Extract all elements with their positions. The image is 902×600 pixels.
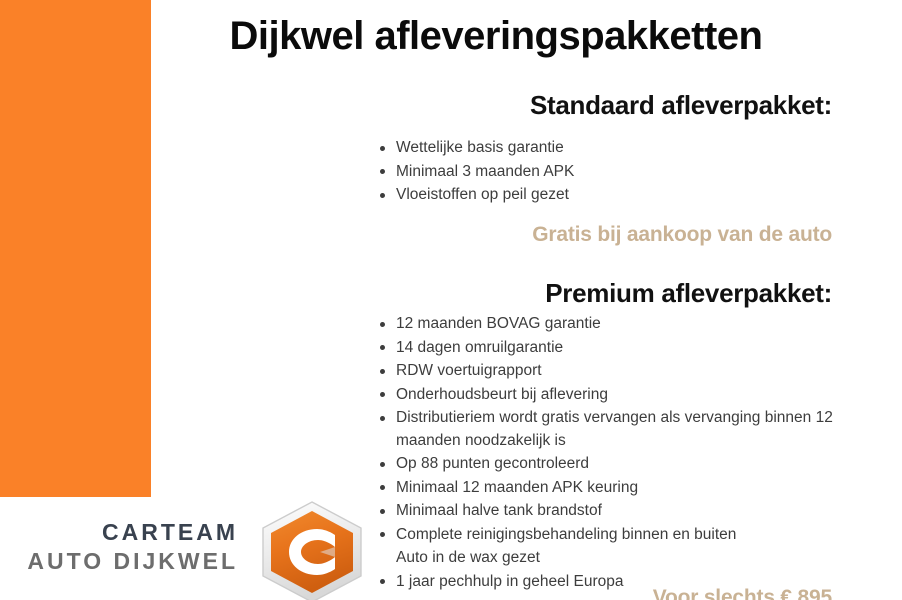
premium-package-price-note: Voor slechts € 895 [653, 585, 832, 600]
list-item: 14 dagen omruilgarantie [378, 337, 838, 360]
brand-wordmark: CARTEAM AUTO DIJKWEL [0, 518, 238, 576]
list-item: Vloeistoffen op peil gezet [378, 184, 838, 207]
list-item-label: Minimaal 12 maanden APK keuring [396, 477, 838, 500]
list-item: 12 maanden BOVAG garantie [378, 313, 838, 336]
list-item: Minimaal 12 maanden APK keuring [378, 477, 838, 500]
list-item-label: Op 88 punten gecontroleerd [396, 453, 838, 476]
list-item: Minimaal halve tank brandstof [378, 500, 838, 523]
list-item: Op 88 punten gecontroleerd [378, 453, 838, 476]
premium-package-heading: Premium afleverpakket: [545, 278, 832, 308]
carteam-hexagon-c-logo-icon [257, 500, 367, 600]
list-item-label: Wettelijke basis garantie [396, 137, 838, 160]
list-item-label: Minimaal halve tank brandstof [396, 500, 838, 523]
bullet-dot-icon [380, 322, 385, 327]
list-item: Complete reinigingsbehandeling binnen en… [378, 524, 838, 547]
bullet-dot-icon [380, 392, 385, 397]
bullet-dot-icon [380, 509, 385, 514]
brand-name-carteam: CARTEAM [0, 518, 238, 546]
list-item-label: Vloeistoffen op peil gezet [396, 184, 838, 207]
premium-package-list: 12 maanden BOVAG garantie 14 dagen omrui… [378, 313, 838, 594]
list-item: Minimaal 3 maanden APK [378, 161, 838, 184]
bullet-dot-icon [380, 532, 385, 537]
list-item-label: Complete reinigingsbehandeling binnen en… [396, 524, 838, 547]
list-item: RDW voertuigrapport [378, 360, 838, 383]
standard-package-heading: Standaard afleverpakket: [530, 90, 832, 120]
standard-package-list: Wettelijke basis garantie Minimaal 3 maa… [378, 137, 838, 208]
list-item-label: Distributieriem wordt gratis vervangen a… [396, 407, 838, 452]
orange-accent-block [0, 0, 151, 497]
list-item-label: Auto in de wax gezet [396, 547, 838, 570]
bullet-dot-icon [380, 146, 385, 151]
list-item-label: 12 maanden BOVAG garantie [396, 313, 838, 336]
bullet-dot-icon [380, 579, 385, 584]
list-item: Onderhoudsbeurt bij aflevering [378, 384, 838, 407]
list-item: Auto in de wax gezet [378, 547, 838, 570]
bullet-dot-icon [380, 416, 385, 421]
list-item-label: 14 dagen omruilgarantie [396, 337, 838, 360]
bullet-dot-icon [380, 345, 385, 350]
bullet-dot-icon [380, 193, 385, 198]
list-item: Distributieriem wordt gratis vervangen a… [378, 407, 838, 452]
page-title: Dijkwel afleveringspakketten [158, 11, 834, 61]
bullet-dot-icon [380, 485, 385, 490]
standard-package-note: Gratis bij aankoop van de auto [532, 222, 832, 248]
poster-canvas: Dijkwel afleveringspakketten Standaard a… [0, 0, 902, 600]
brand-name-auto-dijkwel: AUTO DIJKWEL [0, 546, 238, 576]
bullet-dot-icon [380, 369, 385, 374]
list-item-label: RDW voertuigrapport [396, 360, 838, 383]
list-item-label: Minimaal 3 maanden APK [396, 161, 838, 184]
bullet-dot-icon [380, 462, 385, 467]
list-item-label: Onderhoudsbeurt bij aflevering [396, 384, 838, 407]
bullet-dot-icon [380, 169, 385, 174]
list-item: Wettelijke basis garantie [378, 137, 838, 160]
